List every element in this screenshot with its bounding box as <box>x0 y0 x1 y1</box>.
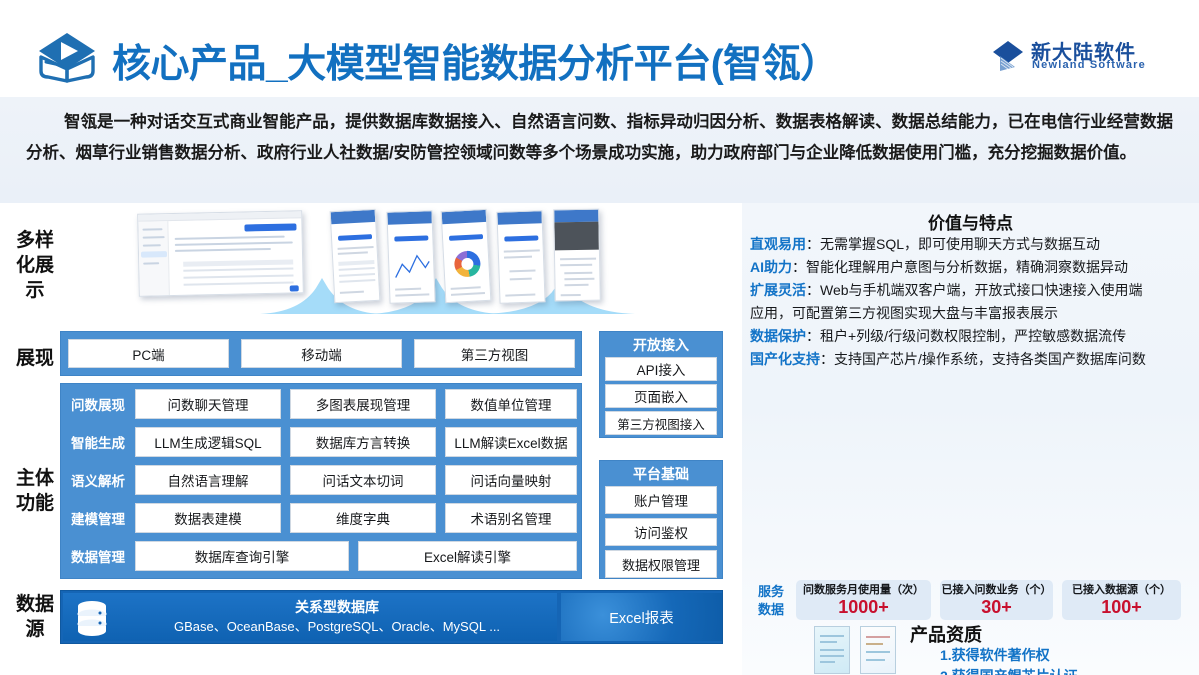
cell-mobile[interactable]: 移动端 <box>241 339 402 368</box>
slide-header: 核心产品_大模型智能数据分析平台(智瓴） 新大陆软件 Newland Softw… <box>0 0 1199 97</box>
db-title: 关系型数据库 <box>123 598 551 617</box>
cell-llm-excel[interactable]: LLM解读Excel数据 <box>445 427 577 457</box>
cell-account-mgmt[interactable]: 账户管理 <box>605 486 717 514</box>
feature-key: 数据保护 <box>750 328 806 344</box>
page-title: 核心产品_大模型智能数据分析平台(智瓴） <box>112 33 839 89</box>
db-list: GBase、OceanBase、PostgreSQL、Oracle、MySQL … <box>123 617 551 636</box>
screenshot-mobile-5 <box>553 209 601 302</box>
brand-name-en: Newland Software <box>1032 59 1146 71</box>
stat-value: 1000+ <box>838 597 889 617</box>
intro-paragraph: 智瓴是一种对话交互式商业智能产品，提供数据库数据接入、自然语言问数、指标异动归因… <box>26 107 1173 169</box>
feature-item: AI助力：智能化理解用户意图与分析数据，精确洞察数据异动 <box>750 256 1193 279</box>
cell-tokenization[interactable]: 问话文本切词 <box>290 465 436 495</box>
data-source-excel[interactable]: Excel报表 <box>561 593 722 641</box>
feature-text: ：智能化理解用户意图与分析数据，精确洞察数据异动 <box>792 259 1128 275</box>
row-label-display: 多样 化展 示 <box>6 228 64 303</box>
stat-caption: 已接入问数业务（个） <box>942 583 1052 597</box>
band-core-functions: 问数展现 问数聊天管理 多图表展现管理 数值单位管理 智能生成 LLM生成逻辑S… <box>60 383 582 579</box>
cell-dialect-convert[interactable]: 数据库方言转换 <box>290 427 436 457</box>
row-label-source: 数据 源 <box>6 592 64 642</box>
group-label-question-display: 问数展现 <box>65 389 131 419</box>
row-label-present: 展现 <box>6 346 64 371</box>
qualification-title: 产品资质 <box>910 621 982 647</box>
cell-term-alias[interactable]: 术语别名管理 <box>445 503 577 533</box>
value-panel: 价值与特点 直观易用：无需掌握SQL，即可使用聊天方式与数据互动 AI助力：智能… <box>742 203 1199 675</box>
certificate-thumb-2 <box>860 626 896 674</box>
cell-nlu[interactable]: 自然语言理解 <box>135 465 281 495</box>
stat-connected-business: 已接入问数业务（个） 30+ <box>940 580 1053 620</box>
feature-key: 扩展灵活 <box>750 282 806 298</box>
stat-caption: 已接入数据源（个） <box>1072 583 1171 597</box>
qualification-item-2: 2.获得国产鲲芯片认证 <box>940 666 1078 675</box>
newland-diamond-icon <box>991 40 1025 72</box>
stat-connected-datasources: 已接入数据源（个） 100+ <box>1062 580 1181 620</box>
feature-list: 直观易用：无需掌握SQL，即可使用聊天方式与数据互动 AI助力：智能化理解用户意… <box>750 233 1193 371</box>
cell-llm-sql[interactable]: LLM生成逻辑SQL <box>135 427 281 457</box>
feature-key: 直观易用 <box>750 236 806 252</box>
feature-item: 应用，可配置第三方视图实现大盘与丰富报表展示 <box>750 302 1193 325</box>
screenshot-mobile-4 <box>496 210 545 304</box>
cell-excel-engine[interactable]: Excel解读引擎 <box>358 541 577 571</box>
band-title-open-access: 开放接入 <box>600 335 722 354</box>
band-data-source: 关系型数据库 GBase、OceanBase、PostgreSQL、Oracle… <box>60 590 723 644</box>
book-play-icon <box>36 31 98 83</box>
stat-monthly-usage: 问数服务月使用量（次） 1000+ <box>796 580 931 620</box>
screenshot-pc <box>137 210 304 296</box>
value-panel-title: 价值与特点 <box>742 209 1199 234</box>
cell-third-party-access[interactable]: 第三方视图接入 <box>605 411 717 435</box>
screenshot-mobile-2 <box>386 210 435 304</box>
screenshot-mobile-1 <box>330 209 381 303</box>
cell-api-access[interactable]: API接入 <box>605 357 717 381</box>
screenshot-mobile-3 <box>441 209 492 303</box>
band-title-platform-base: 平台基础 <box>600 464 722 483</box>
service-data-label: 服务 数据 <box>748 583 794 619</box>
intro-section: 智瓴是一种对话交互式商业智能产品，提供数据库数据接入、自然语言问数、指标异动归因… <box>0 97 1199 203</box>
database-icon <box>75 600 109 636</box>
band-open-access: 开放接入 API接入 页面嵌入 第三方视图接入 <box>599 331 723 438</box>
cell-multichart-mgmt[interactable]: 多图表展现管理 <box>290 389 436 419</box>
group-label-data-mgmt: 数据管理 <box>65 541 131 571</box>
feature-item: 直观易用：无需掌握SQL，即可使用聊天方式与数据互动 <box>750 233 1193 256</box>
certificate-thumb-1 <box>814 626 850 674</box>
row-label-core: 主体 功能 <box>6 466 64 516</box>
stat-value: 30+ <box>981 597 1012 617</box>
qualification-item-1: 1.获得软件著作权 <box>940 645 1050 665</box>
band-presentation: PC端 移动端 第三方视图 <box>60 331 582 376</box>
product-screenshot-strip <box>120 206 680 316</box>
cell-dimension-dict[interactable]: 维度字典 <box>290 503 436 533</box>
cell-page-embed[interactable]: 页面嵌入 <box>605 384 717 408</box>
feature-item: 国产化支持：支持国产芯片/操作系统，支持各类国产数据库问数 <box>750 348 1193 371</box>
feature-text: ：支持国产芯片/操作系统，支持各类国产数据库问数 <box>820 351 1146 367</box>
cell-chat-mgmt[interactable]: 问数聊天管理 <box>135 389 281 419</box>
group-label-intelligent-generation: 智能生成 <box>65 427 131 457</box>
cell-pc[interactable]: PC端 <box>68 339 229 368</box>
cell-vector-mapping[interactable]: 问话向量映射 <box>445 465 577 495</box>
cell-third-party-view[interactable]: 第三方视图 <box>414 339 575 368</box>
group-label-semantic-parsing: 语义解析 <box>65 465 131 495</box>
feature-key: AI助力 <box>750 259 792 275</box>
data-source-relational-db[interactable]: 关系型数据库 GBase、OceanBase、PostgreSQL、Oracle… <box>63 593 557 641</box>
group-label-modeling: 建模管理 <box>65 503 131 533</box>
stat-caption: 问数服务月使用量（次） <box>803 583 924 597</box>
cell-unit-mgmt[interactable]: 数值单位管理 <box>445 389 577 419</box>
line-chart-icon <box>394 249 431 280</box>
feature-text: ：无需掌握SQL，即可使用聊天方式与数据互动 <box>806 236 1100 252</box>
feature-text: ：Web与手机端双客户端，开放式接口快速接入使用端 <box>806 282 1143 298</box>
band-platform-base: 平台基础 账户管理 访问鉴权 数据权限管理 <box>599 460 723 579</box>
feature-text: ：租户+列级/行级问数权限控制，严控敏感数据流传 <box>806 328 1126 344</box>
slide-root: 核心产品_大模型智能数据分析平台(智瓴） 新大陆软件 Newland Softw… <box>0 0 1199 675</box>
feature-item: 扩展灵活：Web与手机端双客户端，开放式接口快速接入使用端 <box>750 279 1193 302</box>
cell-table-modeling[interactable]: 数据表建模 <box>135 503 281 533</box>
feature-item: 数据保护：租户+列级/行级问数权限控制，严控敏感数据流传 <box>750 325 1193 348</box>
cell-access-auth[interactable]: 访问鉴权 <box>605 518 717 546</box>
brand-logo: 新大陆软件 Newland Software <box>991 36 1141 78</box>
donut-chart-icon <box>454 250 481 277</box>
feature-text: 应用，可配置第三方视图实现大盘与丰富报表展示 <box>750 305 1058 321</box>
cell-data-permission[interactable]: 数据权限管理 <box>605 550 717 578</box>
feature-key: 国产化支持 <box>750 351 820 367</box>
stat-value: 100+ <box>1101 597 1142 617</box>
cell-db-query-engine[interactable]: 数据库查询引擎 <box>135 541 349 571</box>
